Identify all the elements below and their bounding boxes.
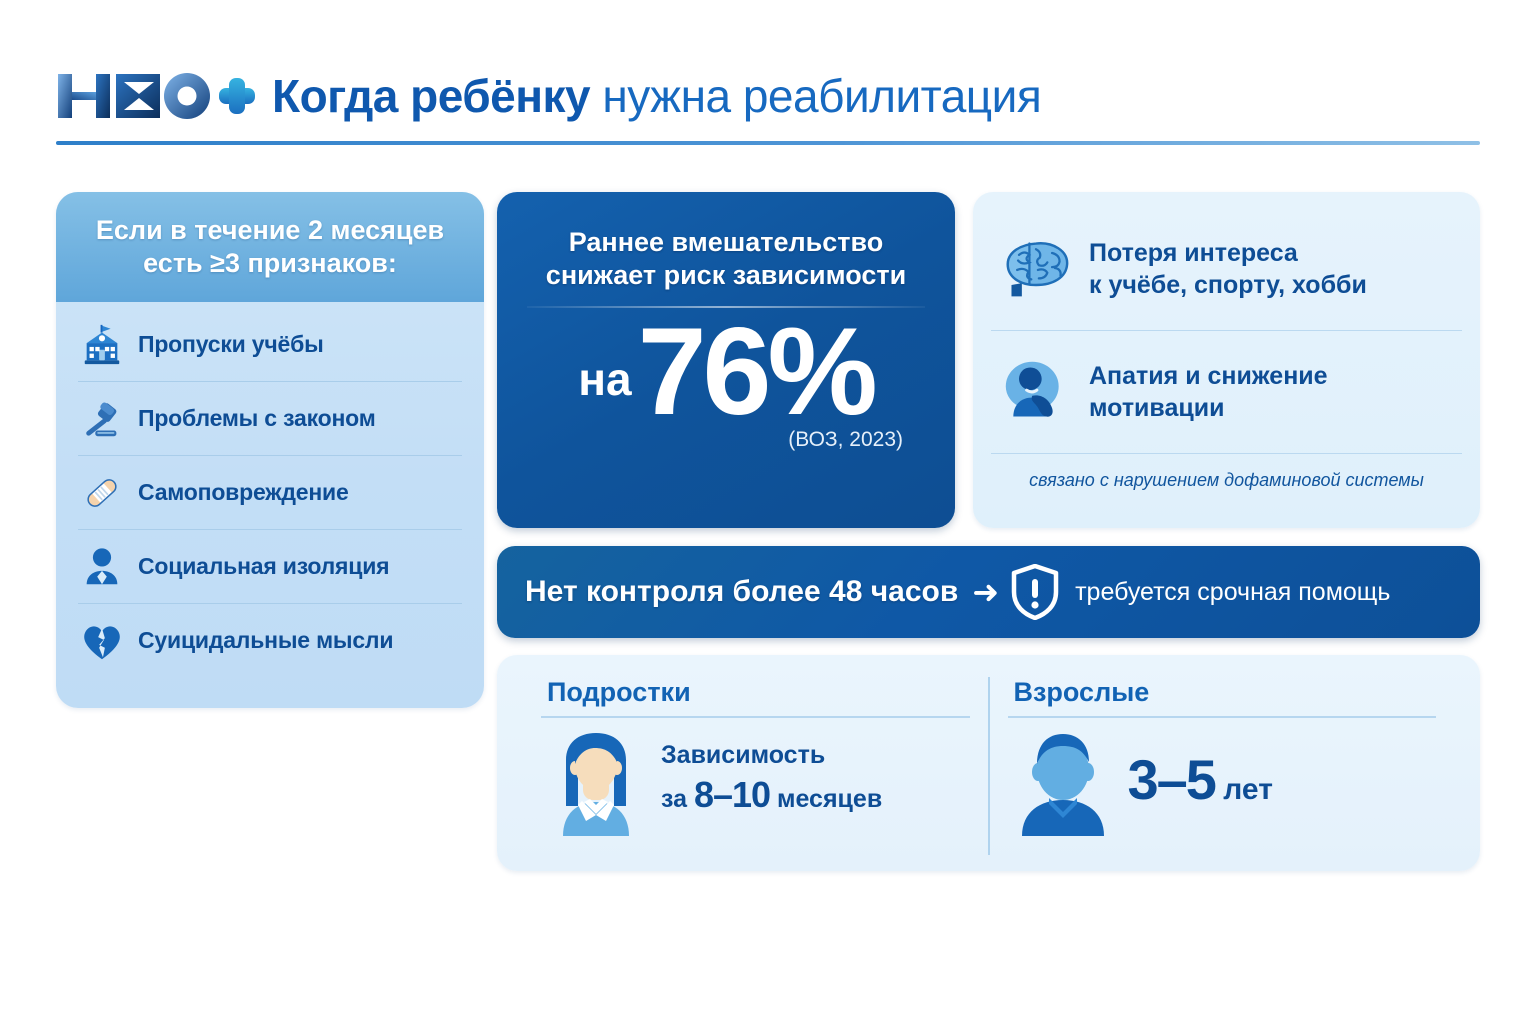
bandage-icon — [78, 469, 126, 517]
teens-text: Зависимость за 8–10 месяцев — [661, 740, 882, 820]
person-alone-icon — [78, 543, 126, 591]
statistic-heading-line2: снижает риск зависимости — [523, 259, 929, 292]
arrow-right-icon: ➜ — [972, 576, 999, 608]
adults-text: 3–5 лет — [1128, 752, 1273, 808]
page-title-bold: Когда ребёнку — [272, 70, 590, 122]
list-item: Самоповреждение — [78, 456, 462, 530]
list-item: Апатия и снижение мотивации — [991, 331, 1462, 454]
symptoms-card: Потеря интереса к учёбе, спорту, хобби А… — [973, 192, 1480, 528]
page-title-light: нужна реабилитация — [602, 70, 1041, 122]
list-item: Суицидальные мысли — [78, 604, 462, 677]
statistic-heading-line1: Раннее вмешательство — [523, 226, 929, 259]
signs-card: Если в течение 2 месяцев есть ≥3 признак… — [56, 192, 484, 708]
adult-man-avatar — [1008, 724, 1118, 836]
neo-plus-logo — [56, 68, 256, 124]
comparison-title-adults: Взрослые — [1008, 677, 1437, 708]
gavel-icon — [78, 395, 126, 443]
symptom-line2: мотивации — [1089, 394, 1224, 422]
symptom-label: Потеря интереса к учёбе, спорту, хобби — [1089, 237, 1367, 302]
statistic-value-row: на 76% — [497, 314, 955, 432]
sign-label: Пропуски учёбы — [138, 331, 324, 358]
adults-duration-value: 3–5 — [1128, 748, 1215, 811]
page-header: Когда ребёнку нужна реабилитация — [56, 46, 1480, 146]
alert-sub-text: требуется срочная помощь — [1075, 578, 1390, 607]
statistic-heading: Раннее вмешательство снижает риск зависи… — [497, 192, 955, 292]
adults-duration-unit: лет — [1215, 773, 1273, 806]
statistic-card: Раннее вмешательство снижает риск зависи… — [497, 192, 955, 528]
signs-heading-line1: Если в течение 2 месяцев — [96, 214, 444, 247]
statistic-value: 76% — [638, 314, 874, 432]
symptom-line1: Апатия и снижение — [1089, 362, 1328, 390]
signs-list: Пропуски учёбы Проблемы с законом — [56, 302, 484, 691]
comparison-column-teens: Подростки — [523, 677, 988, 855]
alert-main-text: Нет контроля более 48 часов — [525, 575, 958, 609]
brain-icon — [991, 229, 1081, 309]
sign-label: Проблемы с законом — [138, 405, 376, 432]
header-divider — [56, 141, 1480, 145]
infographic-root: Когда ребёнку нужна реабилитация Если в … — [0, 0, 1536, 1024]
urgent-alert-banner: Нет контроля более 48 часов ➜ требуется … — [497, 546, 1480, 638]
warning-shield-icon — [1011, 564, 1059, 620]
broken-heart-icon — [78, 617, 126, 665]
signs-heading-line2: есть ≥3 признаков: — [143, 247, 397, 280]
comparison-title-teens: Подростки — [541, 677, 970, 708]
statistic-prefix: на — [578, 352, 631, 406]
list-item: Пропуски учёбы — [78, 308, 462, 382]
comparison-divider-adults — [1008, 716, 1437, 718]
teen-girl-avatar — [541, 724, 651, 836]
page-title: Когда ребёнку нужна реабилитация — [272, 73, 1041, 119]
comparison-body-adults: 3–5 лет — [1008, 724, 1437, 836]
sign-label: Социальная изоляция — [138, 553, 389, 580]
sign-label: Суицидальные мысли — [138, 627, 393, 654]
teens-line1: Зависимость — [661, 740, 882, 771]
school-icon — [78, 321, 126, 369]
sign-label: Самоповреждение — [138, 479, 349, 506]
comparison-column-adults: Взрослые 3–5 лет — [988, 677, 1455, 855]
symptoms-note: связано с нарушением дофаминовой системы — [991, 454, 1462, 491]
symptom-label: Апатия и снижение мотивации — [1089, 360, 1328, 425]
teens-duration-prefix: за — [661, 785, 694, 813]
symptom-line2: к учёбе, спорту, хобби — [1089, 271, 1367, 299]
adults-duration: 3–5 лет — [1128, 752, 1273, 808]
list-item: Потеря интереса к учёбе, спорту, хобби — [991, 208, 1462, 331]
symptom-line1: Потеря интереса — [1089, 239, 1298, 267]
signs-card-header: Если в течение 2 месяцев есть ≥3 признак… — [56, 192, 484, 302]
teens-line2: за 8–10 месяцев — [661, 771, 882, 820]
comparison-body-teens: Зависимость за 8–10 месяцев — [541, 724, 970, 836]
teens-duration-unit: месяцев — [770, 785, 882, 813]
comparison-divider-teens — [541, 716, 970, 718]
list-item: Проблемы с законом — [78, 382, 462, 456]
list-item: Социальная изоляция — [78, 530, 462, 604]
teens-duration-value: 8–10 — [694, 774, 770, 815]
comparison-card: Подростки — [497, 655, 1480, 871]
sad-person-icon — [991, 352, 1081, 432]
